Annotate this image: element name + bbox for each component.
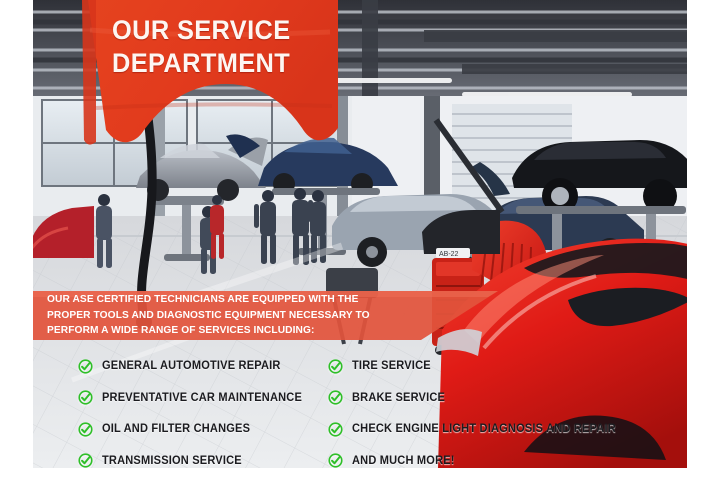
list-item-label: TRANSMISSION SERVICE	[102, 455, 242, 467]
list-item-label: PREVENTATIVE CAR MAINTENANCE	[102, 392, 302, 404]
service-department-poster: AB-22	[0, 0, 720, 480]
check-circle-icon	[328, 422, 343, 437]
list-item[interactable]: AND MUCH MORE!	[328, 447, 627, 475]
services-list: GENERAL AUTOMOTIVE REPAIR PREVENTATIVE C…	[0, 352, 720, 462]
intro-line-3: PERFORM A WIDE RANGE OF SERVICES INCLUDI…	[47, 323, 416, 339]
list-item[interactable]: PREVENTATIVE CAR MAINTENANCE	[78, 384, 310, 412]
check-circle-icon	[78, 453, 93, 468]
title-banner: OUR SERVICE DEPARTMENT	[80, 0, 342, 152]
check-circle-icon	[328, 359, 343, 374]
intro-text: OUR ASE CERTIFIED TECHNICIANS ARE EQUIPP…	[47, 292, 427, 339]
title-banner-text: OUR SERVICE DEPARTMENT	[80, 0, 342, 152]
list-item-label: TIRE SERVICE	[352, 360, 431, 372]
list-item-label: OIL AND FILTER CHANGES	[102, 423, 250, 435]
check-circle-icon	[328, 453, 343, 468]
list-item[interactable]: GENERAL AUTOMOTIVE REPAIR	[78, 352, 310, 380]
svg-text:AB-22: AB-22	[439, 251, 459, 258]
list-item-label: GENERAL AUTOMOTIVE REPAIR	[102, 360, 281, 372]
list-item[interactable]: OIL AND FILTER CHANGES	[78, 415, 310, 443]
list-item-label: CHECK ENGINE LIGHT DIAGNOSIS AND REPAIR	[352, 423, 616, 435]
title-line-2: DEPARTMENT	[112, 47, 317, 80]
list-item[interactable]: TIRE SERVICE	[328, 352, 627, 380]
check-circle-icon	[328, 390, 343, 405]
check-circle-icon	[78, 390, 93, 405]
intro-line-1: OUR ASE CERTIFIED TECHNICIANS ARE EQUIPP…	[47, 292, 416, 308]
list-item[interactable]: CHECK ENGINE LIGHT DIAGNOSIS AND REPAIR	[328, 415, 627, 443]
list-item[interactable]: BRAKE SERVICE	[328, 384, 627, 412]
intro-line-2: PROPER TOOLS AND DIAGNOSTIC EQUIPMENT NE…	[47, 308, 416, 324]
services-column-left: GENERAL AUTOMOTIVE REPAIR PREVENTATIVE C…	[78, 352, 310, 478]
check-circle-icon	[78, 359, 93, 374]
services-column-right: TIRE SERVICE BRAKE SERVICE CHECK ENGINE …	[328, 352, 627, 478]
title-line-1: OUR SERVICE	[112, 14, 317, 47]
list-item[interactable]: TRANSMISSION SERVICE	[78, 447, 310, 475]
list-item-label: AND MUCH MORE!	[352, 455, 455, 467]
check-circle-icon	[78, 422, 93, 437]
list-item-label: BRAKE SERVICE	[352, 392, 445, 404]
